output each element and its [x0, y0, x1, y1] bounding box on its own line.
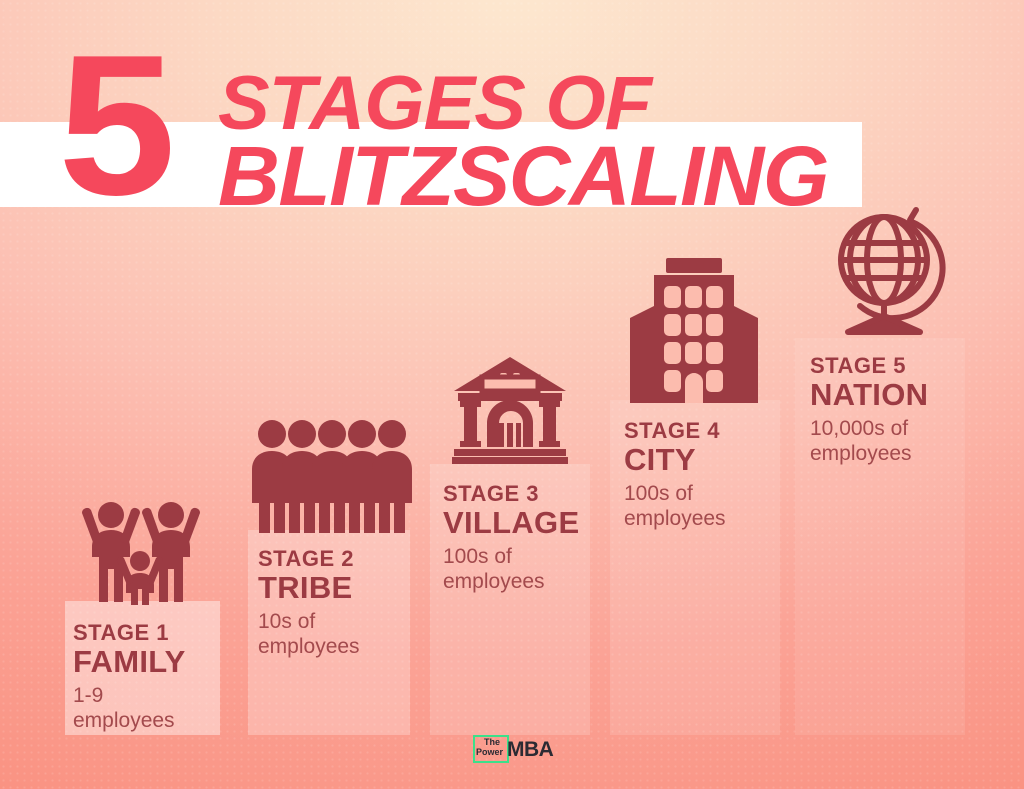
stage-5-name: NATION	[810, 379, 928, 412]
stage-label-4: STAGE 4 CITY 100s ofemployees	[624, 418, 726, 532]
stage-2-eyebrow: STAGE 2	[258, 546, 360, 571]
stage-2-sub: 10s ofemployees	[258, 609, 360, 660]
stage-3-eyebrow: STAGE 3	[443, 481, 579, 506]
title-block: 5 STAGES OF BLITZSCALING	[0, 30, 1024, 215]
stage-4-name: CITY	[624, 444, 726, 477]
stage-2-name: TRIBE	[258, 572, 360, 605]
title-number: 5	[58, 42, 170, 210]
thepowermba-logo: The Power MBA	[473, 733, 559, 767]
family-icon	[76, 497, 204, 610]
stage-3-name: VILLAGE	[443, 507, 579, 540]
globe-icon	[826, 198, 954, 343]
group-of-people-icon	[250, 418, 414, 538]
town-hall-building-icon	[452, 357, 568, 469]
logo-the-text: The	[484, 737, 500, 747]
logo-mba-text: MBA	[507, 738, 553, 762]
stage-1-eyebrow: STAGE 1	[73, 620, 186, 645]
logo-power-text: Power	[476, 747, 503, 757]
infographic-canvas: 5 STAGES OF BLITZSCALING	[0, 0, 1024, 789]
stage-5-sub: 10,000s ofemployees	[810, 416, 928, 467]
stage-1-sub: 1-9employees	[73, 683, 186, 734]
stage-4-sub: 100s ofemployees	[624, 481, 726, 532]
stage-3-sub: 100s ofemployees	[443, 544, 579, 595]
office-tower-icon	[628, 258, 760, 408]
stage-4-eyebrow: STAGE 4	[624, 418, 726, 443]
stage-1-name: FAMILY	[73, 646, 186, 679]
stage-label-5: STAGE 5 NATION 10,000s ofemployees	[810, 353, 928, 467]
title-line-2: BLITZSCALING	[218, 134, 828, 218]
stage-5-eyebrow: STAGE 5	[810, 353, 928, 378]
stage-label-2: STAGE 2 TRIBE 10s ofemployees	[258, 546, 360, 660]
stage-label-1: STAGE 1 FAMILY 1-9employees	[73, 620, 186, 734]
stage-label-3: STAGE 3 VILLAGE 100s ofemployees	[443, 481, 579, 595]
